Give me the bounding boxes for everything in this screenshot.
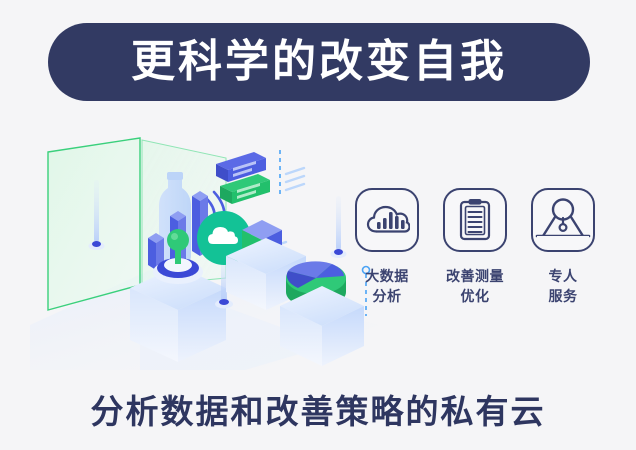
feature-label-line2: 优化	[446, 286, 504, 306]
feature-label-service: 专人 服务	[549, 266, 578, 307]
feature-label-line2: 服务	[549, 286, 578, 306]
feature-item-measurement[interactable]: 改善测量 优化	[440, 188, 510, 307]
page-caption: 分析数据和改善策略的私有云	[0, 385, 636, 433]
feature-label-line1: 专人	[549, 266, 578, 286]
feature-label-line1: 大数据	[365, 266, 409, 286]
page-title: 更科学的改变自我	[131, 40, 507, 84]
service-agent-icon-frame	[531, 188, 595, 252]
clipboard-icon	[455, 197, 495, 243]
dotted-connector	[331, 196, 347, 258]
cloud-bar-chart-icon-frame	[355, 188, 419, 252]
dotted-connector	[280, 150, 304, 194]
feature-list: 大数据 分析	[352, 188, 598, 307]
feature-label-line2: 分析	[365, 286, 409, 306]
feature-item-service[interactable]: 专人 服务	[528, 188, 598, 307]
feature-label-measurement: 改善测量 优化	[446, 266, 504, 307]
title-banner: 更科学的改变自我	[48, 23, 590, 101]
poster-canvas: 更科学的改变自我	[0, 0, 636, 450]
cloud-bar-chart-icon	[364, 200, 410, 240]
clipboard-icon-frame	[443, 188, 507, 252]
feature-label-line1: 改善测量	[446, 266, 504, 286]
feature-item-big-data[interactable]: 大数据 分析	[352, 188, 422, 307]
service-agent-icon	[535, 196, 591, 244]
illustration	[30, 120, 380, 370]
illustration-svg	[30, 120, 380, 370]
feature-label-big-data: 大数据 分析	[365, 266, 409, 307]
